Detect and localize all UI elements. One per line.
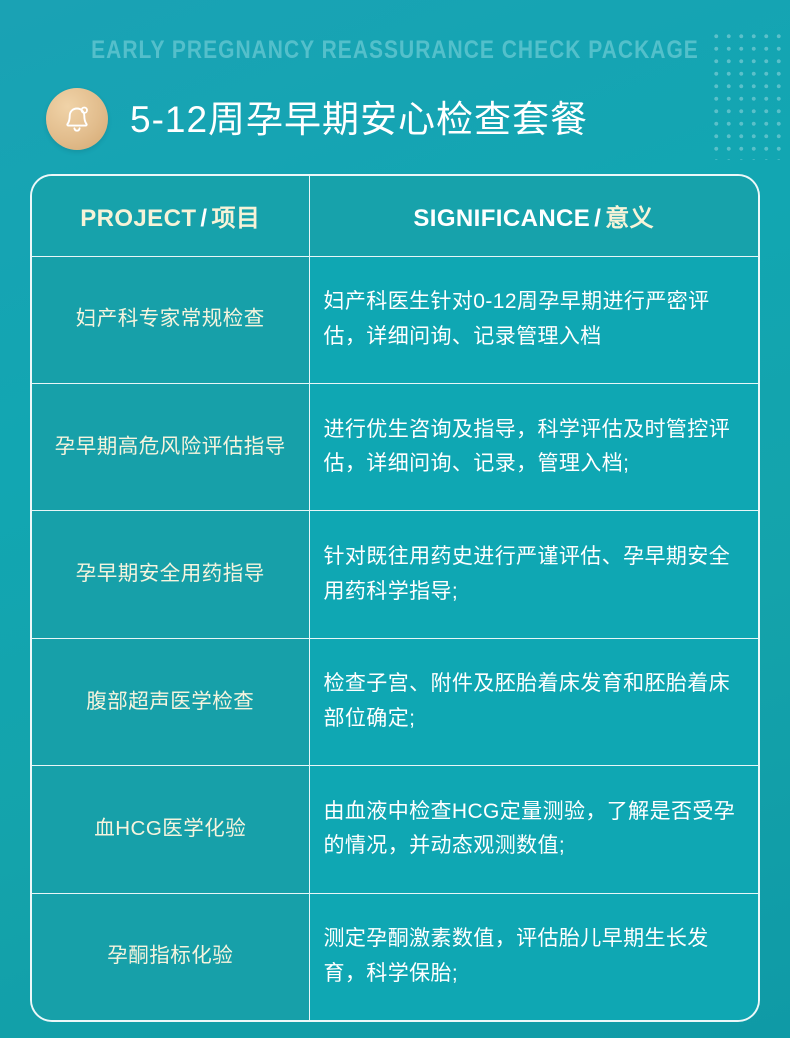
watermark-headline: EARLY PREGNANCY REASSURANCE CHECK PACKAG… <box>63 36 727 65</box>
column-header-project: PROJECT/项目 <box>32 176 309 256</box>
column-header-significance-en: SIGNIFICANCE <box>413 205 590 232</box>
table-row: 妇产科专家常规检查 妇产科医生针对0-12周孕早期进行严密评估，详细问询、记录管… <box>32 256 758 383</box>
package-table: PROJECT/项目 SIGNIFICANCE/意义 妇产科专家常规检查 妇产科… <box>32 176 758 1020</box>
row-project-name: 血HCG医学化验 <box>32 766 309 893</box>
header-title-row: 5-12周孕早期安心检查套餐 <box>46 88 588 150</box>
table-row: 腹部超声医学检查 检查子宫、附件及胚胎着床发育和胚胎着床部位确定; <box>32 638 758 765</box>
row-significance-text: 妇产科医生针对0-12周孕早期进行严密评估，详细问询、记录管理入档 <box>309 256 758 383</box>
column-header-project-cn: 项目 <box>211 205 260 232</box>
row-project-name: 腹部超声医学检查 <box>32 638 309 765</box>
row-project-name: 孕早期高危风险评估指导 <box>32 383 309 510</box>
row-project-name: 孕早期安全用药指导 <box>32 511 309 638</box>
table-row: 血HCG医学化验 由血液中检查HCG定量测验，了解是否受孕的情况，并动态观测数值… <box>32 766 758 893</box>
page-title: 5-12周孕早期安心检查套餐 <box>130 101 588 138</box>
column-header-significance: SIGNIFICANCE/意义 <box>309 176 758 256</box>
table-row: 孕早期高危风险评估指导 进行优生咨询及指导，科学评估及时管控评估，详细问询、记录… <box>32 383 758 510</box>
column-header-project-separator: / <box>196 205 211 232</box>
package-table-container: PROJECT/项目 SIGNIFICANCE/意义 妇产科专家常规检查 妇产科… <box>30 174 760 1022</box>
table-header-row: PROJECT/项目 SIGNIFICANCE/意义 <box>32 176 758 256</box>
table-row: 孕早期安全用药指导 针对既往用药史进行严谨评估、孕早期安全用药科学指导; <box>32 511 758 638</box>
bell-icon <box>46 88 108 150</box>
row-project-name: 孕酮指标化验 <box>32 893 309 1020</box>
column-header-project-en: PROJECT <box>80 205 196 232</box>
column-header-significance-separator: / <box>590 205 605 232</box>
row-significance-text: 针对既往用药史进行严谨评估、孕早期安全用药科学指导; <box>309 511 758 638</box>
row-project-name: 妇产科专家常规检查 <box>32 256 309 383</box>
row-significance-text: 测定孕酮激素数值，评估胎儿早期生长发育，科学保胎; <box>309 893 758 1020</box>
row-significance-text: 检查子宫、附件及胚胎着床发育和胚胎着床部位确定; <box>309 638 758 765</box>
table-row: 孕酮指标化验 测定孕酮激素数值，评估胎儿早期生长发育，科学保胎; <box>32 893 758 1020</box>
column-header-significance-cn: 意义 <box>605 205 654 232</box>
row-significance-text: 进行优生咨询及指导，科学评估及时管控评估，详细问询、记录，管理入档; <box>309 383 758 510</box>
row-significance-text: 由血液中检查HCG定量测验，了解是否受孕的情况，并动态观测数值; <box>309 766 758 893</box>
